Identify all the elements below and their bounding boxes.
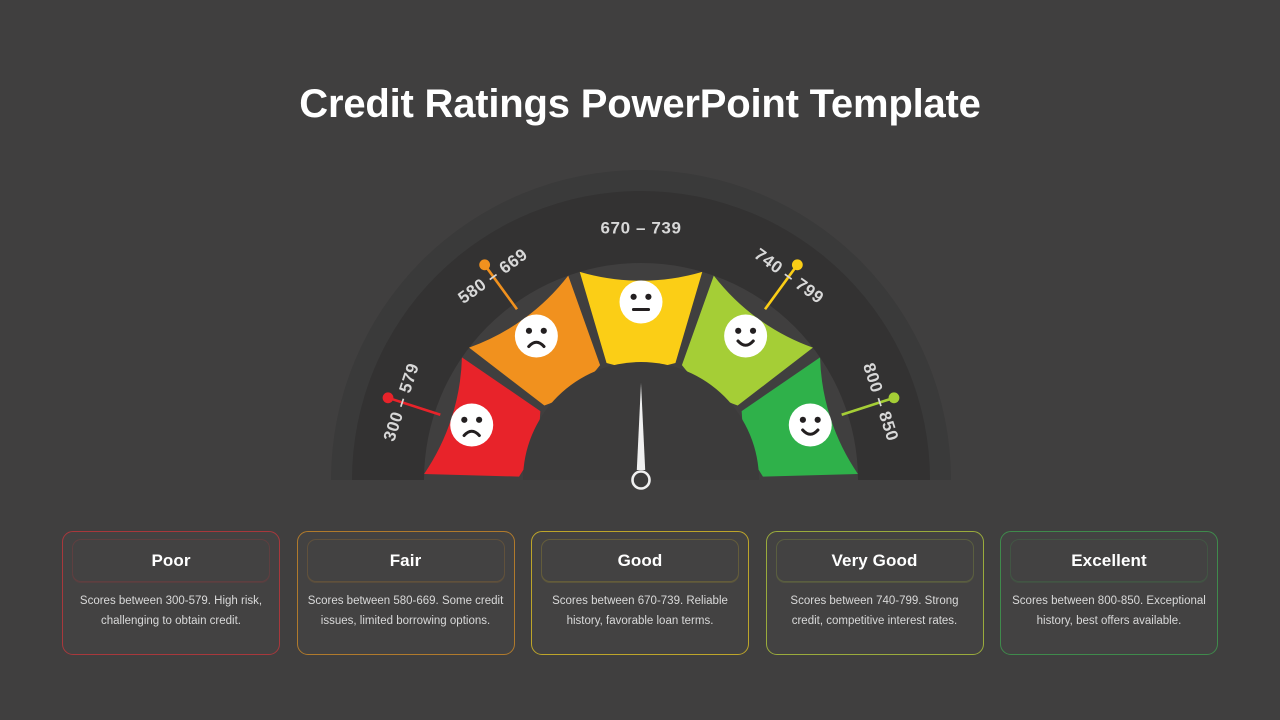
- rating-card-title: Excellent: [1071, 551, 1147, 571]
- credit-score-gauge: 300 – 579580 – 669670 – 739740 – 799800 …: [311, 160, 971, 500]
- face-icon-neutral: [620, 281, 663, 324]
- rating-card-title: Good: [618, 551, 663, 571]
- rating-card-title: Fair: [390, 551, 422, 571]
- rating-card-fair[interactable]: FairScores between 580-669. Some credit …: [297, 531, 515, 655]
- rating-card-title: Very Good: [832, 551, 918, 571]
- rating-card-header-poor: Poor: [72, 539, 270, 582]
- face-icon-smile: [724, 314, 767, 357]
- gauge-svg: 300 – 579580 – 669670 – 739740 – 799800 …: [311, 160, 971, 500]
- rating-card-description: Scores between 300-579. High risk, chall…: [71, 591, 271, 631]
- rating-card-good[interactable]: GoodScores between 670-739. Reliable his…: [531, 531, 749, 655]
- rating-card-header-fair: Fair: [307, 539, 505, 582]
- rating-card-header-excellent: Excellent: [1010, 539, 1208, 582]
- face-icon-frown: [515, 314, 558, 357]
- rating-cards-row: PoorScores between 300-579. High risk, c…: [62, 531, 1218, 657]
- range-label-good: 670 – 739: [600, 219, 681, 238]
- rating-card-header-good: Good: [541, 539, 739, 582]
- rating-card-description: Scores between 800-850. Exceptional hist…: [1009, 591, 1209, 631]
- gauge-needle-hub: [633, 472, 650, 489]
- face-icon-happy: [789, 403, 832, 446]
- rating-card-header-very_good: Very Good: [776, 539, 974, 582]
- face-icon-sad: [450, 403, 493, 446]
- rating-card-very_good[interactable]: Very GoodScores between 740-799. Strong …: [766, 531, 984, 655]
- page-title: Credit Ratings PowerPoint Template: [0, 78, 1280, 130]
- rating-card-description: Scores between 580-669. Some credit issu…: [306, 591, 506, 631]
- rating-card-title: Poor: [151, 551, 190, 571]
- rating-card-description: Scores between 670-739. Reliable history…: [540, 591, 740, 631]
- rating-card-excellent[interactable]: ExcellentScores between 800-850. Excepti…: [1000, 531, 1218, 655]
- rating-card-description: Scores between 740-799. Strong credit, c…: [775, 591, 975, 631]
- rating-card-poor[interactable]: PoorScores between 300-579. High risk, c…: [62, 531, 280, 655]
